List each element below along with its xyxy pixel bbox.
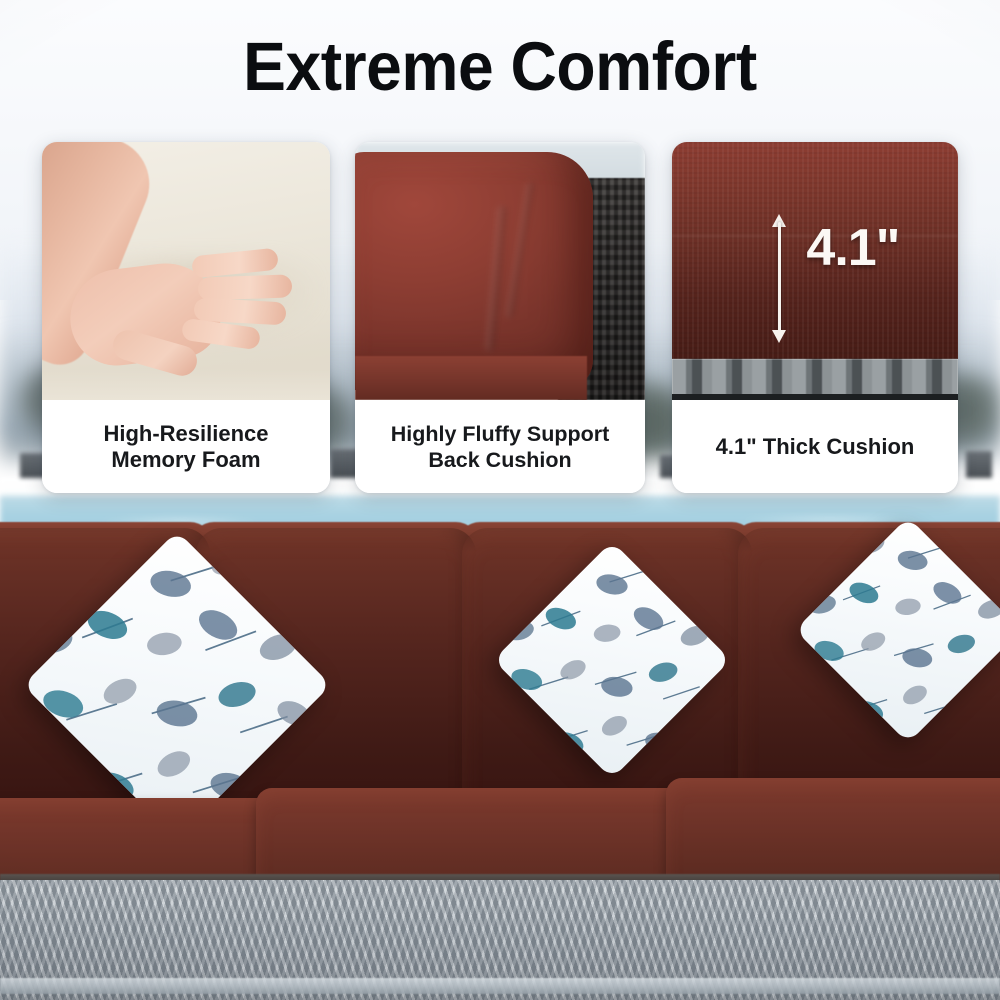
finger-shape xyxy=(198,274,293,300)
arrow-shaft xyxy=(778,222,781,335)
feature-card-back-cushion[interactable]: Highly Fluffy Support Back Cushion xyxy=(355,142,645,493)
feature-caption-back-cushion: Highly Fluffy Support Back Cushion xyxy=(355,400,645,493)
caption-line-1: High-Resilience xyxy=(103,421,268,447)
feature-card-memory-foam[interactable]: High-Resilience Memory Foam xyxy=(42,142,330,493)
arrow-head-down-icon xyxy=(772,330,786,343)
sofa-hero-photo xyxy=(0,498,1000,1000)
caption-line-2: Memory Foam xyxy=(103,447,268,473)
wicker-bottom-rail xyxy=(0,978,1000,994)
measurement-label: 4.1" xyxy=(806,222,899,274)
caption-line-2: Back Cushion xyxy=(391,447,610,473)
pillow-fold xyxy=(484,204,507,351)
caption-line-1: Highly Fluffy Support xyxy=(391,421,610,447)
page-title: Extreme Comfort xyxy=(35,28,965,106)
thick-cushion-photo: 4.1" xyxy=(672,142,958,400)
caption-line-1: 4.1" Thick Cushion xyxy=(716,434,915,460)
seat-cushion-foreground xyxy=(355,356,587,400)
feature-caption-memory-foam: High-Resilience Memory Foam xyxy=(42,400,330,493)
product-feature-image: Extreme Comfort High-Resilience Memory F… xyxy=(0,0,1000,1000)
pillow-fold xyxy=(506,181,535,318)
rust-pillow-shape xyxy=(355,152,593,389)
memory-foam-photo xyxy=(42,142,330,400)
back-cushion-photo xyxy=(355,142,645,400)
measurement-arrow-icon xyxy=(778,214,781,343)
feature-card-thick-cushion[interactable]: 4.1" 4.1" Thick Cushion xyxy=(672,142,958,493)
feature-caption-thick-cushion: 4.1" Thick Cushion xyxy=(672,400,958,493)
frame-bottom-edge xyxy=(672,394,958,400)
